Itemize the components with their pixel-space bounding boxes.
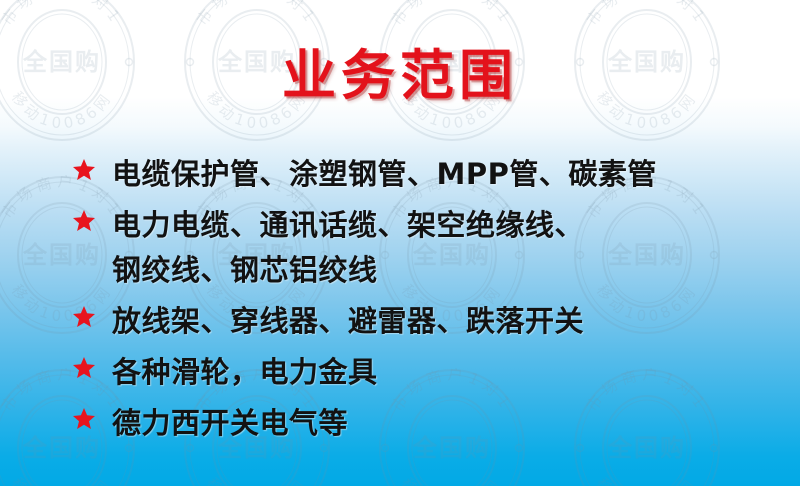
red-star-icon (72, 209, 96, 233)
page-title-container: 业务范围 (0, 48, 800, 105)
svg-text:市场商户1对1: 市场商户1对1 (0, 0, 126, 29)
red-star-icon (72, 158, 96, 182)
red-star-icon (72, 356, 96, 380)
page-title: 业务范围 (282, 48, 518, 105)
svg-text:移动10086网: 移动10086网 (593, 474, 701, 486)
svg-text:移动10086网: 移动10086网 (8, 474, 116, 486)
red-star-icon (72, 305, 96, 329)
list-item-line: 电力电缆、通讯话缆、架空绝缘线、 (112, 203, 780, 248)
svg-text:移动10086网: 移动10086网 (398, 474, 506, 486)
list-item: 电力电缆、通讯话缆、架空绝缘线、 钢绞线、钢芯铝绞线 (66, 203, 780, 293)
list-item-line: 德力西开关电气等 (112, 401, 780, 446)
list-item: 德力西开关电气等 (66, 401, 780, 446)
list-item: 电缆保护管、涂塑钢管、MPP管、碳素管 (66, 152, 780, 197)
svg-text:移动10086网: 移动10086网 (203, 474, 311, 486)
list-item: 各种滑轮，电力金具 (66, 350, 780, 395)
list-item-line: 电缆保护管、涂塑钢管、MPP管、碳素管 (112, 152, 780, 197)
list-item-line-continued: 钢绞线、钢芯铝绞线 (112, 248, 780, 293)
svg-text:市场商户1对1: 市场商户1对1 (388, 0, 516, 29)
business-scope-list: 电缆保护管、涂塑钢管、MPP管、碳素管 电力电缆、通讯话缆、架空绝缘线、 钢绞线… (66, 152, 780, 452)
svg-text:市场商户1对1: 市场商户1对1 (193, 0, 321, 29)
svg-text:市场商户1对1: 市场商户1对1 (583, 0, 711, 29)
list-item: 放线架、穿线器、避雷器、跌落开关 (66, 299, 780, 344)
list-item-line: 各种滑轮，电力金具 (112, 350, 780, 395)
red-star-icon (72, 407, 96, 431)
list-item-line: 放线架、穿线器、避雷器、跌落开关 (112, 299, 780, 344)
poster-canvas: 市场商户1对1移动10086网全国购市场商户1对1移动10086网全国购市场商户… (0, 0, 800, 486)
